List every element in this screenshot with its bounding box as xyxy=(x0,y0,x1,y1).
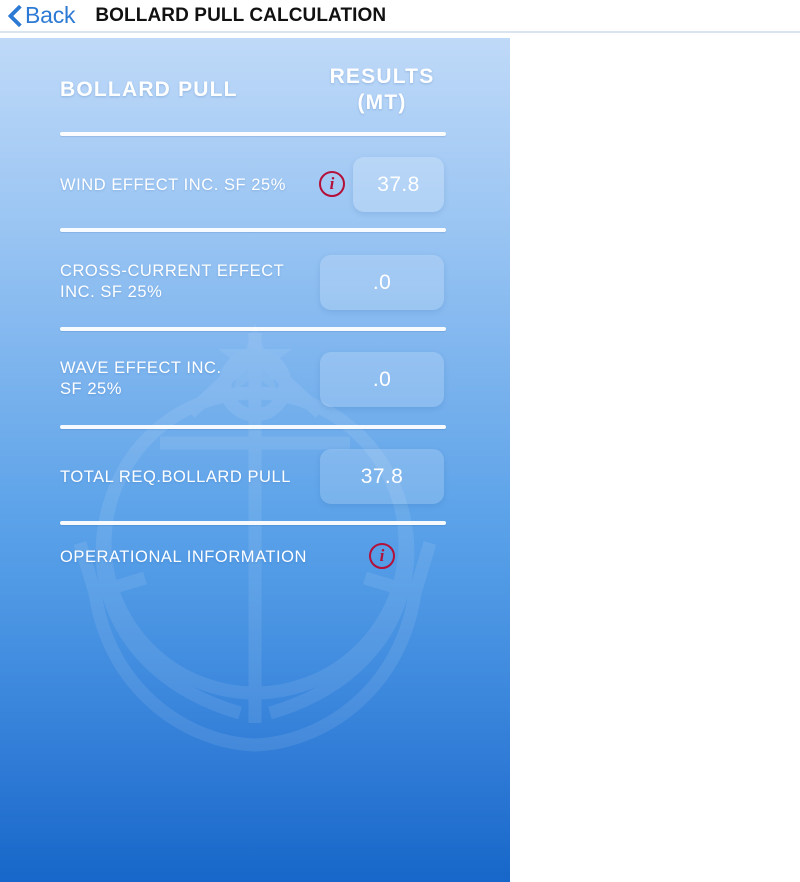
column-header-bollard-pull: BOLLARD PULL xyxy=(60,78,238,102)
value-cross-current-effect: .0 xyxy=(373,271,391,295)
top-navigation-bar: Back BOLLARD PULL CALCULATION xyxy=(0,0,800,31)
table-divider xyxy=(60,132,446,136)
value-pill-wind-effect[interactable]: 37.8 xyxy=(353,157,444,212)
value-pill-total-required-bollard-pull[interactable]: 37.8 xyxy=(320,449,444,504)
value-wave-effect: .0 xyxy=(373,368,391,392)
column-header-results-line1: RESULTS xyxy=(318,64,446,90)
info-icon-wind-effect[interactable]: i xyxy=(319,171,345,197)
info-icon-glyph: i xyxy=(330,175,335,192)
row-label-cross-current-effect: CROSS-CURRENT EFFECT INC. SF 25% xyxy=(60,261,284,303)
row-label-wave-effect: WAVE EFFECT INC. SF 25% xyxy=(60,358,222,400)
row-label-operational-information: OPERATIONAL INFORMATION xyxy=(60,547,307,568)
back-button-label: Back xyxy=(25,4,75,27)
column-header-results-line2: (MT) xyxy=(318,90,446,116)
page-title: BOLLARD PULL CALCULATION xyxy=(95,6,386,25)
row-label-total-required-bollard-pull: TOTAL REQ.BOLLARD PULL xyxy=(60,467,291,488)
chevron-left-icon xyxy=(7,3,24,29)
navbar-divider xyxy=(0,31,800,33)
value-pill-cross-current-effect[interactable]: .0 xyxy=(320,255,444,310)
value-wind-effect: 37.8 xyxy=(377,173,419,197)
info-icon-operational-information[interactable]: i xyxy=(369,543,395,569)
value-total-required-bollard-pull: 37.8 xyxy=(361,465,403,489)
value-pill-wave-effect[interactable]: .0 xyxy=(320,352,444,407)
table-divider xyxy=(60,228,446,232)
table-divider xyxy=(60,425,446,429)
column-header-results: RESULTS (MT) xyxy=(318,64,446,116)
table-divider xyxy=(60,521,446,525)
table-divider xyxy=(60,327,446,331)
info-icon-glyph: i xyxy=(380,547,385,564)
row-label-wind-effect: WIND EFFECT INC. SF 25% xyxy=(60,175,286,196)
back-button[interactable]: Back xyxy=(7,3,75,29)
results-table: BOLLARD PULL RESULTS (MT) WIND EFFECT IN… xyxy=(0,38,510,882)
bollard-pull-panel: BOLLARD PULL RESULTS (MT) WIND EFFECT IN… xyxy=(0,38,510,882)
